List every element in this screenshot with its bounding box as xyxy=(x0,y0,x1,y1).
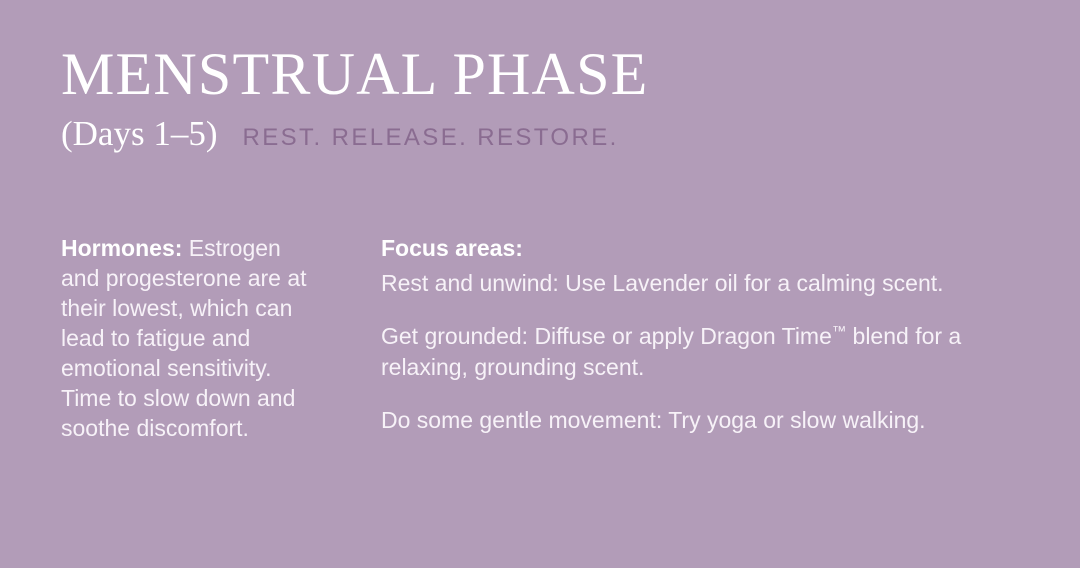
focus-item-text: Rest and unwind: Use Lavender oil for a … xyxy=(381,270,944,296)
focus-areas-heading: Focus areas: xyxy=(381,233,1046,264)
focus-areas-column: Focus areas: Rest and unwind: Use Lavend… xyxy=(381,233,1046,435)
slide-root: MENSTRUAL PHASE (Days 1–5) REST. RELEASE… xyxy=(0,0,1080,568)
hormones-column: Hormones: Estrogen and progesterone are … xyxy=(61,233,323,443)
focus-item: Get grounded: Diffuse or apply Dragon Ti… xyxy=(381,317,1046,383)
focus-item: Rest and unwind: Use Lavender oil for a … xyxy=(381,264,1046,299)
focus-item-text: Get grounded: Diffuse or apply Dragon Ti… xyxy=(381,323,832,349)
tagline: REST. RELEASE. RESTORE. xyxy=(243,126,619,150)
hormones-text: Estrogen and progesterone are at their l… xyxy=(61,235,307,441)
header: MENSTRUAL PHASE (Days 1–5) REST. RELEASE… xyxy=(61,44,1041,151)
hormones-label: Hormones: xyxy=(61,235,182,261)
body-columns: Hormones: Estrogen and progesterone are … xyxy=(61,233,1046,443)
trademark-symbol: ™ xyxy=(832,324,846,340)
hormones-paragraph: Hormones: Estrogen and progesterone are … xyxy=(61,233,323,443)
page-title: MENSTRUAL PHASE xyxy=(61,44,1041,104)
days-range: (Days 1–5) xyxy=(61,116,218,151)
subtitle-row: (Days 1–5) REST. RELEASE. RESTORE. xyxy=(61,116,1041,151)
focus-item: Do some gentle movement: Try yoga or slo… xyxy=(381,401,1046,436)
focus-item-text: Do some gentle movement: Try yoga or slo… xyxy=(381,406,926,432)
